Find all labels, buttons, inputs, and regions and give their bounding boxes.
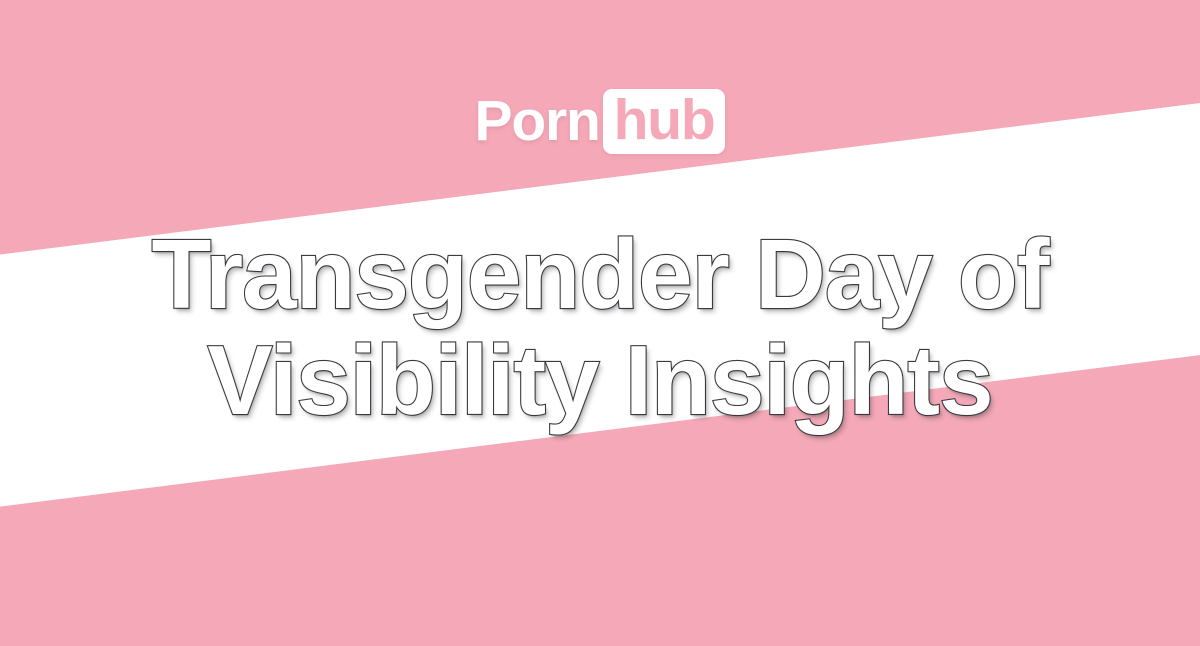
pornhub-tdov-banner: Porn hub Transgender Day of Visibility I… bbox=[0, 0, 1200, 646]
headline-line-2: Visibility Insights bbox=[0, 328, 1200, 434]
logo-porn-text: Porn bbox=[475, 93, 603, 150]
pornhub-logo[interactable]: Porn hub bbox=[0, 88, 1200, 154]
banner-headline: Transgender Day of Visibility Insights bbox=[0, 222, 1200, 434]
headline-line-1: Transgender Day of bbox=[0, 222, 1200, 328]
logo-hub-text: hub bbox=[614, 88, 715, 152]
logo-hub-box: hub bbox=[603, 89, 726, 154]
